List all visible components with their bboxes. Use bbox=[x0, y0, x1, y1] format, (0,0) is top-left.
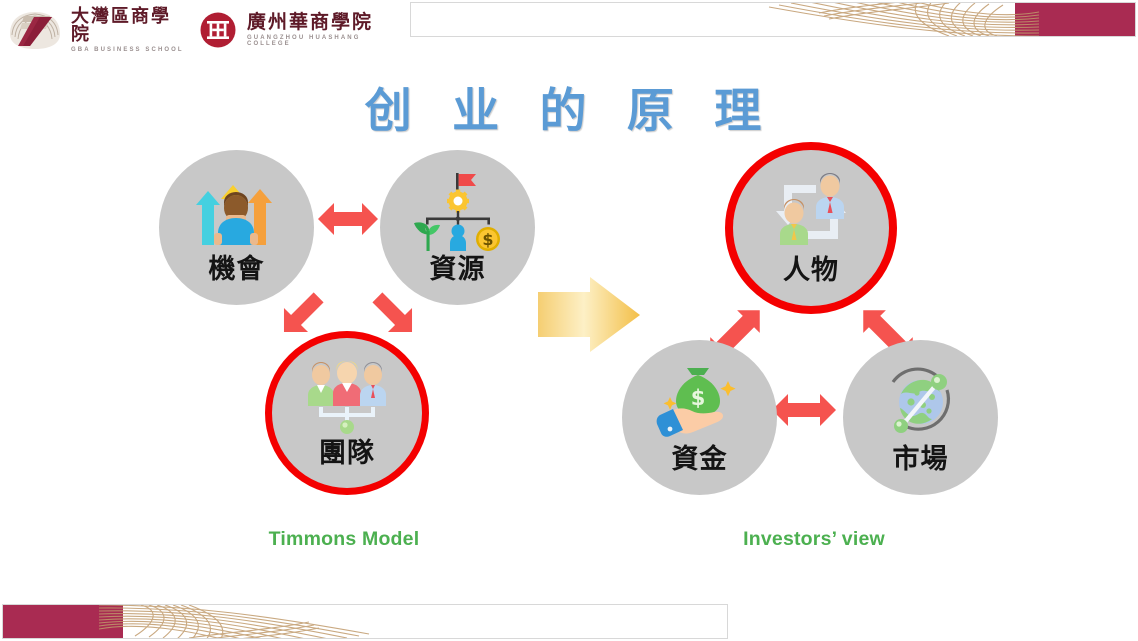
caption-investors-view: Investors’ view bbox=[714, 528, 914, 551]
connector-arrows-layer bbox=[0, 0, 1138, 641]
svg-text:$: $ bbox=[482, 230, 493, 249]
node-opportunity[interactable]: 機會 bbox=[159, 150, 314, 305]
person-growth-arrows-icon bbox=[159, 172, 314, 253]
hand-money-bag-icon: $ bbox=[622, 362, 777, 443]
globe-network-icon bbox=[843, 362, 998, 443]
node-resources[interactable]: $ 資源 bbox=[380, 150, 535, 305]
big-yellow-right-arrow-icon bbox=[538, 277, 640, 352]
node-funding-label: 資金 bbox=[622, 446, 777, 473]
two-people-exchange-icon bbox=[733, 172, 889, 253]
arrow-opportunity-resources bbox=[318, 203, 378, 235]
node-funding[interactable]: $ 資金 bbox=[622, 340, 777, 495]
svg-text:$: $ bbox=[690, 386, 705, 410]
arrow-funding-market bbox=[772, 394, 836, 426]
node-people-label: 人物 bbox=[733, 257, 889, 284]
node-resources-label: 資源 bbox=[380, 256, 535, 283]
node-market[interactable]: 市場 bbox=[843, 340, 998, 495]
three-people-team-icon bbox=[272, 359, 422, 437]
node-opportunity-label: 機會 bbox=[159, 256, 314, 283]
caption-timmons-model: Timmons Model bbox=[244, 528, 444, 551]
node-team[interactable]: 團隊 bbox=[272, 338, 422, 488]
diagram-canvas: 機會 bbox=[0, 0, 1138, 641]
node-people[interactable]: 人物 bbox=[733, 150, 889, 306]
node-market-label: 市場 bbox=[843, 446, 998, 473]
flag-gear-org-chart-icon: $ bbox=[380, 172, 535, 253]
node-team-label: 團隊 bbox=[272, 440, 422, 467]
